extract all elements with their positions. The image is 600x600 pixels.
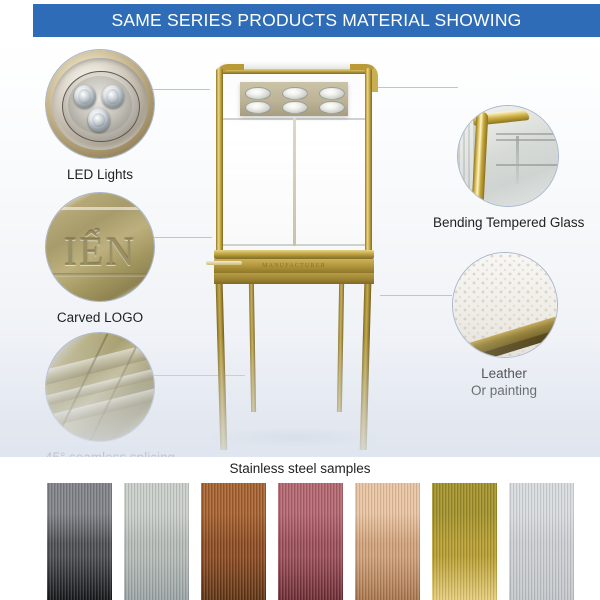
engraved-logo-text: IỂN [46, 228, 154, 275]
cabinet-leg-back-right [337, 284, 344, 412]
callout-carved-logo: IỂN Carved LOGO [45, 192, 155, 326]
carved-logo-photo: IỂN [45, 192, 155, 302]
sample-swatch-mirror-silver[interactable] [509, 483, 574, 600]
callout-label-led-lights: LED Lights [45, 166, 155, 183]
page-title: SAME SERIES PRODUCTS MATERIAL SHOWING [112, 10, 522, 31]
connector-line-leather [380, 295, 452, 296]
cabinet-post-right [365, 68, 372, 256]
cabinet-leg-front-right [360, 284, 372, 450]
bending-glass-photo [457, 105, 559, 207]
leather-texture-icon [453, 253, 557, 357]
cabinet-side-tray [206, 261, 242, 265]
led-downlight-icon [46, 50, 154, 158]
floor-shadow [205, 427, 385, 449]
callout-label-leather: Leather [452, 365, 556, 382]
led-lamp-icon [282, 87, 308, 100]
connector-line-glass [378, 87, 458, 88]
cabinet-led-panel [240, 82, 348, 116]
cabinet-apron [214, 273, 374, 284]
mitered-corner-icon [46, 333, 154, 441]
led-lights-photo [45, 49, 155, 159]
led-lamp-icon [245, 101, 271, 114]
title-banner: SAME SERIES PRODUCTS MATERIAL SHOWING [33, 4, 600, 37]
callout-leather-or-painting: Leather Or painting [452, 252, 556, 399]
sample-swatch-antique-bronze[interactable] [201, 483, 266, 600]
connector-line-splicing [150, 375, 245, 376]
callout-label-carved-logo: Carved LOGO [45, 309, 155, 326]
engraved-surface-icon: IỂN [46, 193, 154, 301]
connector-line-logo [150, 237, 212, 238]
cabinet-leg-front-left [216, 284, 228, 450]
product-stage: MANUFACTURER LED Lights [0, 37, 600, 457]
led-lamp-icon [319, 87, 345, 100]
callout-label-or-painting: Or painting [452, 382, 556, 399]
callout-seamless-splicing: 45° seamless splicing [45, 332, 155, 457]
sample-swatch-natural-silver[interactable] [124, 483, 189, 600]
cabinet-glass-divider [293, 118, 296, 246]
samples-section: Stainless steel samples [0, 457, 600, 600]
callout-label-bending-glass: Bending Tempered Glass [433, 214, 578, 231]
seamless-splicing-photo [45, 332, 155, 442]
cabinet-leg-back-left [249, 284, 256, 412]
connector-line-led [148, 89, 210, 90]
sample-swatch-black-titanium[interactable] [47, 483, 112, 600]
brand-plate-text: MANUFACTURER [262, 263, 326, 269]
sample-swatch-titanium-gold[interactable] [432, 483, 497, 600]
sample-swatch-rose-gold[interactable] [355, 483, 420, 600]
callout-label-seamless-splicing: 45° seamless splicing [45, 449, 155, 457]
leather-photo [452, 252, 558, 358]
material-showing-page: SAME SERIES PRODUCTS MATERIAL SHOWING [0, 0, 600, 600]
cabinet-post-left [216, 68, 223, 256]
led-lamp-icon [245, 87, 271, 100]
callout-bending-tempered-glass: Bending Tempered Glass [455, 105, 555, 231]
sample-swatch-rose-red[interactable] [278, 483, 343, 600]
curved-glass-frame-icon [458, 106, 558, 206]
samples-title: Stainless steel samples [0, 461, 600, 476]
led-lamp-icon [282, 101, 308, 114]
display-cabinet: MANUFACTURER [210, 62, 378, 452]
led-lamp-icon [319, 101, 345, 114]
callout-led-lights: LED Lights [45, 49, 155, 183]
cabinet-base-rail [214, 250, 374, 259]
